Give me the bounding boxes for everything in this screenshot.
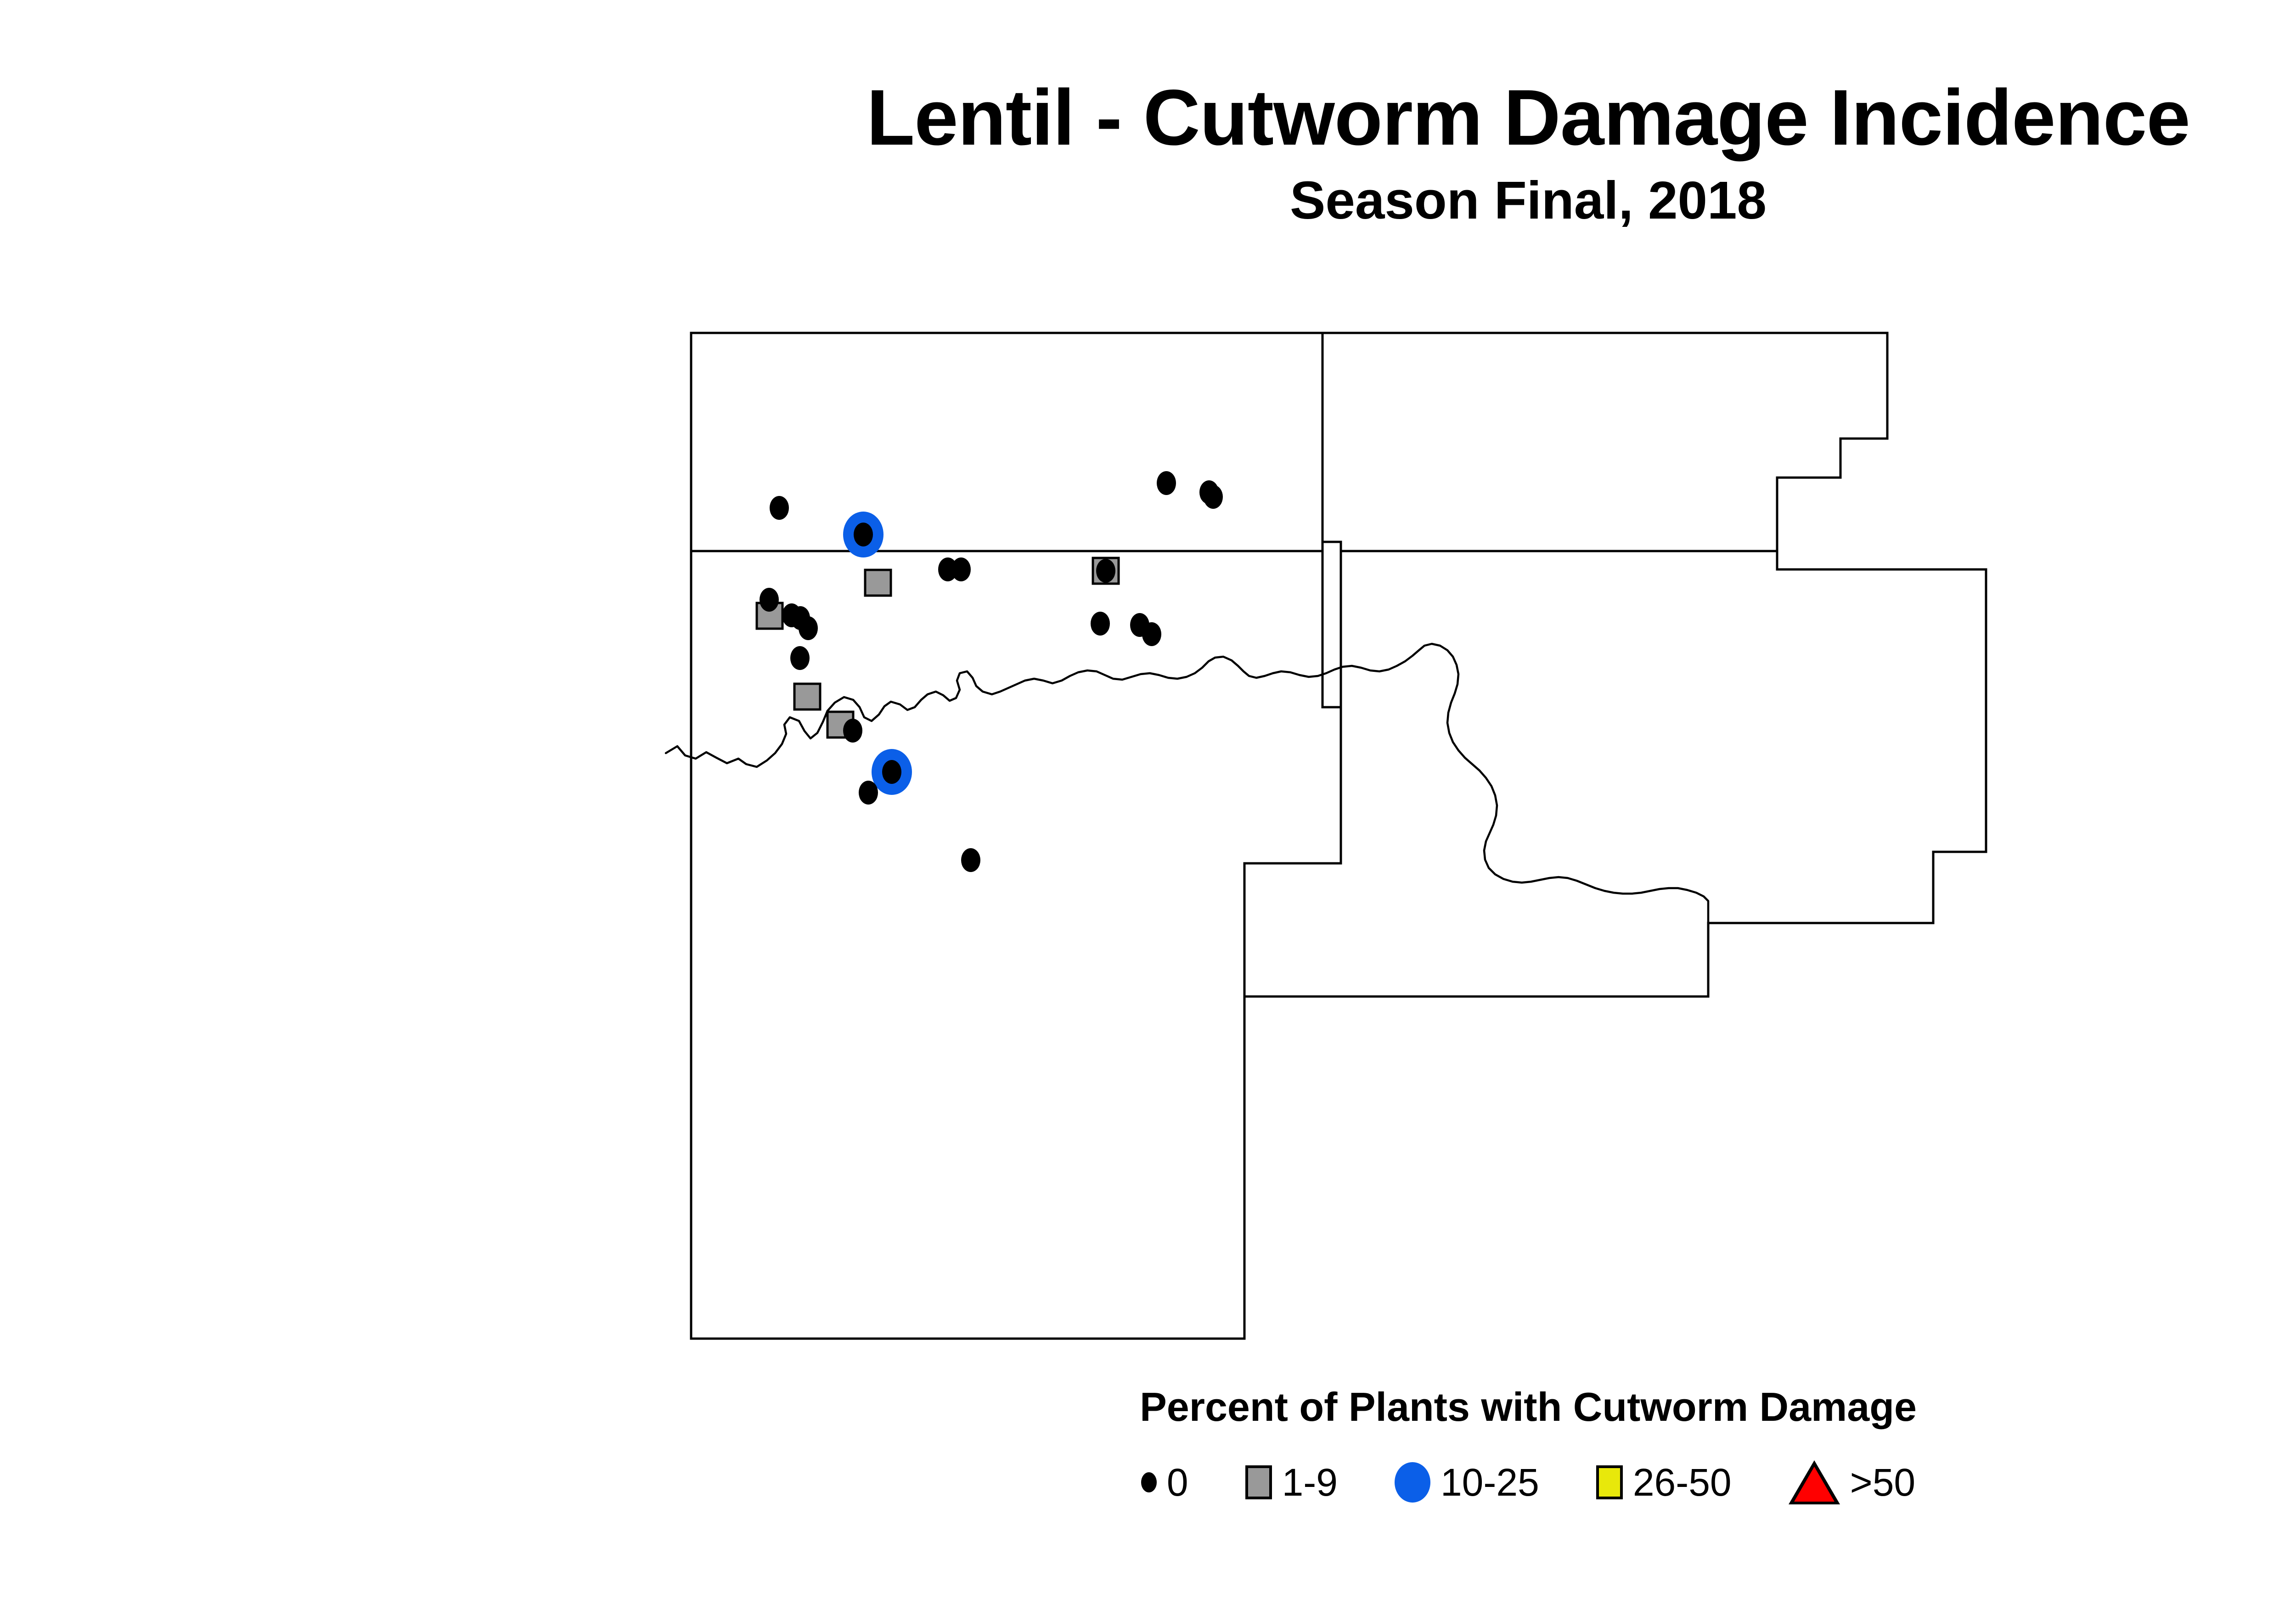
marker-10-25 [843, 512, 884, 557]
marker-1-9 [794, 684, 820, 709]
legend-item-26-50: 26-50 [1596, 1463, 1732, 1502]
marker-0 [760, 588, 779, 612]
yellow-square-icon [1596, 1465, 1623, 1499]
marker-0 [1096, 559, 1115, 583]
legend-item-over-50: >50 [1789, 1460, 1916, 1504]
gray-square-icon [1245, 1465, 1272, 1499]
marker-1-9 [865, 570, 891, 596]
boundary-ne-county [1322, 333, 1887, 551]
marker-10-25 [872, 749, 912, 795]
legend-label-over-50: >50 [1850, 1463, 1916, 1502]
black-dot-icon [1141, 1472, 1157, 1492]
legend-item-1-9: 1-9 [1245, 1463, 1338, 1502]
marker-0 [859, 781, 878, 805]
boundary-e-county [1244, 551, 1986, 996]
title-block: Lentil - Cutworm Damage Incidence Season… [0, 78, 2296, 227]
marker-layer [757, 471, 1223, 872]
page-subtitle: Season Final, 2018 [0, 174, 2296, 227]
river-path [666, 644, 1708, 923]
marker-0 [790, 646, 810, 670]
legend: Percent of Plants with Cutworm Damage 0 … [0, 1387, 2296, 1504]
legend-label-10-25: 10-25 [1441, 1463, 1539, 1502]
page-title: Lentil - Cutworm Damage Incidence [0, 78, 2296, 157]
map-canvas [652, 294, 2057, 1364]
marker-0 [843, 719, 862, 743]
boundary-sw-county [691, 996, 1244, 1339]
map-figure: Lentil - Cutworm Damage Incidence Season… [0, 0, 2296, 1610]
boundary-nw-county [691, 333, 1322, 551]
marker-0 [799, 616, 818, 640]
marker-0 [951, 557, 971, 581]
red-triangle-icon [1789, 1460, 1840, 1504]
legend-items: 0 1-9 10-25 26-50 >50 [0, 1460, 2296, 1504]
legend-label-0: 0 [1167, 1463, 1188, 1502]
river-boundary [666, 644, 1708, 923]
legend-item-10-25: 10-25 [1395, 1462, 1539, 1503]
legend-label-1-9: 1-9 [1282, 1463, 1338, 1502]
legend-label-26-50: 26-50 [1633, 1463, 1732, 1502]
blue-circle-icon [1395, 1462, 1430, 1503]
marker-0 [1091, 612, 1110, 636]
marker-0 [1204, 485, 1223, 509]
legend-title: Percent of Plants with Cutworm Damage [0, 1387, 2296, 1427]
marker-0 [770, 496, 789, 520]
marker-0 [1157, 471, 1176, 495]
legend-item-0: 0 [1141, 1463, 1188, 1502]
marker-0 [1142, 622, 1161, 646]
map-boundaries [691, 333, 1986, 1339]
marker-0 [961, 848, 980, 872]
map-svg [652, 294, 2057, 1364]
